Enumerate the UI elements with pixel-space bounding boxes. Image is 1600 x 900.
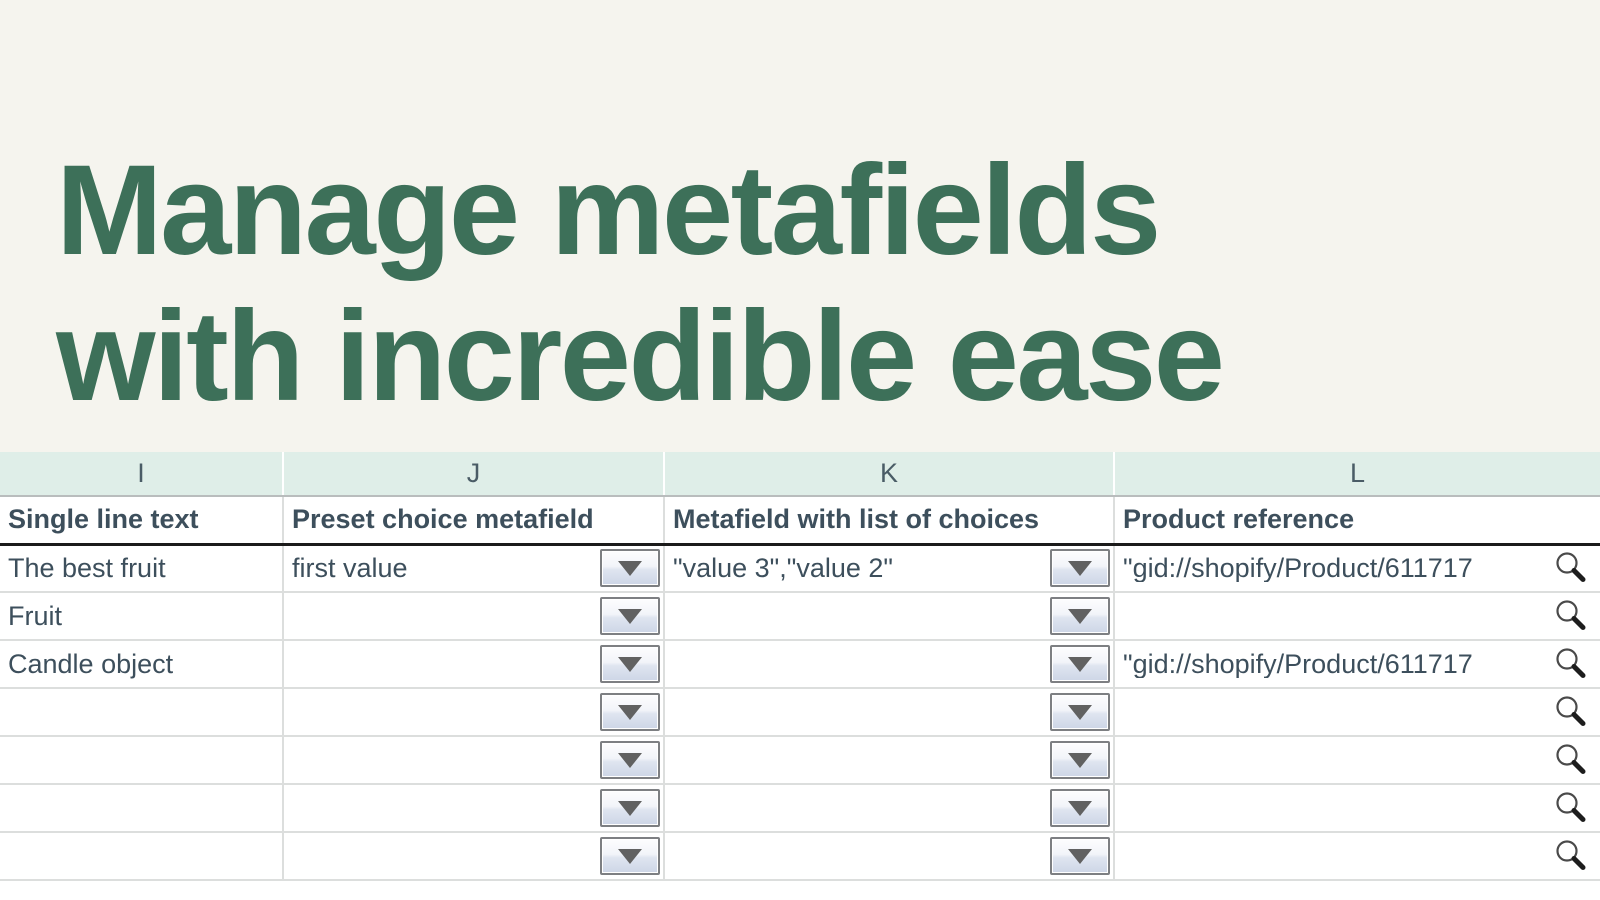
chevron-down-glyph [1068, 849, 1092, 864]
cell-metafield-with-list-of-choices[interactable] [664, 640, 1114, 688]
cell-inner [673, 785, 1113, 831]
field-name-preset-choice-metafield[interactable]: Preset choice metafield [283, 496, 664, 544]
chevron-down-glyph [1068, 705, 1092, 720]
spreadsheet-viewport: I J K L Single line text Preset choice m… [0, 452, 1600, 900]
cell-preset-choice-metafield[interactable] [283, 832, 664, 880]
cell-inner [673, 737, 1113, 783]
search-icon[interactable] [1550, 787, 1592, 829]
page-title: Manage metafields with incredible ease [56, 138, 1536, 430]
spreadsheet-body: The best fruitfirst value"value 3","valu… [0, 544, 1600, 880]
column-header-k[interactable]: K [664, 452, 1114, 496]
cell-inner [292, 833, 663, 879]
cell-single-line-text[interactable] [0, 688, 283, 736]
table-row [0, 832, 1600, 880]
cell-preset-choice-metafield[interactable] [283, 784, 664, 832]
search-icon[interactable] [1550, 643, 1592, 685]
cell-inner [673, 689, 1113, 735]
cell-product-reference[interactable]: "gid://shopify/Product/611717 [1114, 640, 1600, 688]
column-header-i[interactable]: I [0, 452, 283, 496]
cell-value: "value 3","value 2" [673, 555, 1050, 582]
chevron-down-glyph [618, 609, 642, 624]
cell-single-line-text[interactable] [0, 736, 283, 784]
cell-inner [1123, 833, 1600, 879]
cell-preset-choice-metafield[interactable] [283, 640, 664, 688]
cell-inner: first value [292, 546, 663, 592]
cell-value: Candle object [8, 649, 173, 679]
cell-metafield-with-list-of-choices[interactable] [664, 592, 1114, 640]
field-name-metafield-with-list-of-choices[interactable]: Metafield with list of choices [664, 496, 1114, 544]
cell-inner [1123, 785, 1600, 831]
cell-value: Fruit [8, 601, 62, 631]
cell-metafield-with-list-of-choices[interactable] [664, 784, 1114, 832]
search-icon[interactable] [1550, 835, 1592, 877]
table-row [0, 784, 1600, 832]
search-icon[interactable] [1550, 691, 1592, 733]
spreadsheet: I J K L Single line text Preset choice m… [0, 452, 1600, 900]
chevron-down-glyph [618, 753, 642, 768]
column-letter-row: I J K L [0, 452, 1600, 496]
cell-product-reference[interactable] [1114, 592, 1600, 640]
chevron-down-glyph [618, 849, 642, 864]
cell-inner: "value 3","value 2" [673, 546, 1113, 592]
chevron-down-icon[interactable] [600, 597, 660, 635]
cell-metafield-with-list-of-choices[interactable] [664, 736, 1114, 784]
chevron-down-glyph [1068, 609, 1092, 624]
field-name-single-line-text[interactable]: Single line text [0, 496, 283, 544]
chevron-down-icon[interactable] [1050, 645, 1110, 683]
chevron-down-icon[interactable] [600, 741, 660, 779]
cell-single-line-text[interactable]: Fruit [0, 592, 283, 640]
chevron-down-glyph [618, 705, 642, 720]
chevron-down-icon[interactable] [600, 789, 660, 827]
cell-inner [292, 689, 663, 735]
cell-inner [292, 737, 663, 783]
chevron-down-icon[interactable] [600, 693, 660, 731]
cell-preset-choice-metafield[interactable] [283, 592, 664, 640]
cell-single-line-text[interactable]: The best fruit [0, 544, 283, 592]
chevron-down-glyph [1068, 657, 1092, 672]
column-header-l[interactable]: L [1114, 452, 1600, 496]
table-row: The best fruitfirst value"value 3","valu… [0, 544, 1600, 592]
chevron-down-icon[interactable] [1050, 741, 1110, 779]
chevron-down-icon[interactable] [1050, 693, 1110, 731]
cell-inner [292, 785, 663, 831]
cell-single-line-text[interactable]: Candle object [0, 640, 283, 688]
chevron-down-icon[interactable] [1050, 837, 1110, 875]
cell-preset-choice-metafield[interactable] [283, 736, 664, 784]
cell-inner [1123, 689, 1600, 735]
cell-single-line-text[interactable] [0, 784, 283, 832]
chevron-down-icon[interactable] [1050, 597, 1110, 635]
cell-inner [1123, 593, 1600, 639]
chevron-down-glyph [618, 657, 642, 672]
cell-metafield-with-list-of-choices[interactable] [664, 832, 1114, 880]
spreadsheet-table: I J K L Single line text Preset choice m… [0, 452, 1600, 881]
cell-value: "gid://shopify/Product/611717 [1123, 555, 1550, 582]
cell-single-line-text[interactable] [0, 832, 283, 880]
cell-preset-choice-metafield[interactable]: first value [283, 544, 664, 592]
chevron-down-glyph [1068, 801, 1092, 816]
chevron-down-glyph [1068, 561, 1092, 576]
search-icon[interactable] [1550, 547, 1592, 589]
search-icon[interactable] [1550, 595, 1592, 637]
chevron-down-glyph [1068, 753, 1092, 768]
hero-banner: Manage metafields with incredible ease [0, 0, 1600, 452]
chevron-down-icon[interactable] [1050, 789, 1110, 827]
chevron-down-icon[interactable] [600, 837, 660, 875]
cell-inner [673, 641, 1113, 687]
page-root: Manage metafields with incredible ease I… [0, 0, 1600, 900]
cell-product-reference[interactable] [1114, 688, 1600, 736]
chevron-down-glyph [618, 801, 642, 816]
column-header-j[interactable]: J [283, 452, 664, 496]
chevron-down-icon[interactable] [600, 645, 660, 683]
chevron-down-glyph [618, 561, 642, 576]
cell-value: "gid://shopify/Product/611717 [1123, 651, 1550, 678]
search-icon[interactable] [1550, 739, 1592, 781]
cell-metafield-with-list-of-choices[interactable]: "value 3","value 2" [664, 544, 1114, 592]
cell-inner: "gid://shopify/Product/611717 [1123, 641, 1600, 687]
cell-value: first value [292, 555, 600, 582]
cell-inner: "gid://shopify/Product/611717 [1123, 546, 1600, 592]
cell-preset-choice-metafield[interactable] [283, 688, 664, 736]
cell-inner [673, 833, 1113, 879]
table-row [0, 736, 1600, 784]
cell-metafield-with-list-of-choices[interactable] [664, 688, 1114, 736]
cell-product-reference[interactable]: "gid://shopify/Product/611717 [1114, 544, 1600, 592]
field-name-product-reference[interactable]: Product reference [1114, 496, 1600, 544]
table-row [0, 688, 1600, 736]
field-name-row: Single line text Preset choice metafield… [0, 496, 1600, 544]
table-row: Fruit [0, 592, 1600, 640]
chevron-down-icon[interactable] [600, 549, 660, 587]
cell-inner [673, 593, 1113, 639]
table-row: Candle object"gid://shopify/Product/6117… [0, 640, 1600, 688]
cell-inner [1123, 737, 1600, 783]
cell-product-reference[interactable] [1114, 784, 1600, 832]
cell-value: The best fruit [8, 553, 166, 583]
cell-inner [292, 641, 663, 687]
cell-inner [292, 593, 663, 639]
chevron-down-icon[interactable] [1050, 549, 1110, 587]
cell-product-reference[interactable] [1114, 736, 1600, 784]
cell-product-reference[interactable] [1114, 832, 1600, 880]
